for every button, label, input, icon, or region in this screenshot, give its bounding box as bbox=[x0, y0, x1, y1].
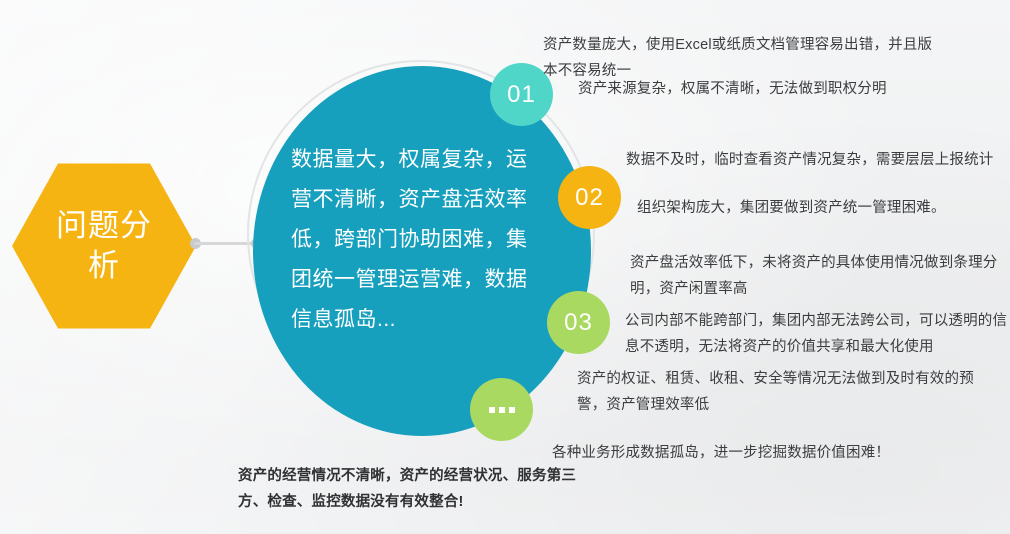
bubble-02-label: 02 bbox=[575, 184, 604, 212]
note-item-7: 资产的权证、租赁、收租、安全等情况无法做到及时有效的预警，资产管理效率低 bbox=[577, 366, 977, 418]
hexagon-label: 问题分析 bbox=[12, 160, 196, 332]
note-item-5: 资产盘活效率低下，未将资产的具体使用情况做到条理分明，资产闲置率高 bbox=[630, 250, 1008, 302]
ellipsis-icon bbox=[489, 407, 515, 413]
bubble-03-label: 03 bbox=[564, 309, 593, 337]
bubble-01-label: 01 bbox=[507, 81, 536, 109]
note-item-4: 组织架构庞大，集团要做到资产统一管理困难。 bbox=[637, 195, 1007, 221]
bubble-03[interactable]: 03 bbox=[547, 291, 610, 354]
note-item-8: 各种业务形成数据孤岛，进一步挖掘数据价值困难！ bbox=[552, 440, 982, 466]
bottom-caption: 资产的经营情况不清晰，资产的经营状况、服务第三方、检查、监控数据没有有效整合! bbox=[238, 463, 598, 515]
hexagon-node[interactable]: 问题分析 bbox=[12, 160, 196, 332]
center-circle-summary: 数据量大，权属复杂，运营不清晰，资产盘活效率低，跨部门协助困难，集团统一管理运营… bbox=[291, 140, 547, 340]
note-item-3: 数据不及时，临时查看资产情况复杂，需要层层上报统计 bbox=[626, 147, 1006, 173]
note-item-2: 资产来源复杂，权属不清晰，无法做到职权分明 bbox=[578, 76, 978, 102]
bubble-02[interactable]: 02 bbox=[558, 166, 621, 229]
infographic-canvas: 问题分析 数据量大，权属复杂，运营不清晰，资产盘活效率低，跨部门协助困难，集团统… bbox=[0, 0, 1010, 534]
bubble-more[interactable] bbox=[470, 378, 533, 441]
note-item-6: 公司内部不能跨部门，集团内部无法跨公司，可以透明的信息不透明，无法将资产的价值共… bbox=[625, 308, 1010, 360]
